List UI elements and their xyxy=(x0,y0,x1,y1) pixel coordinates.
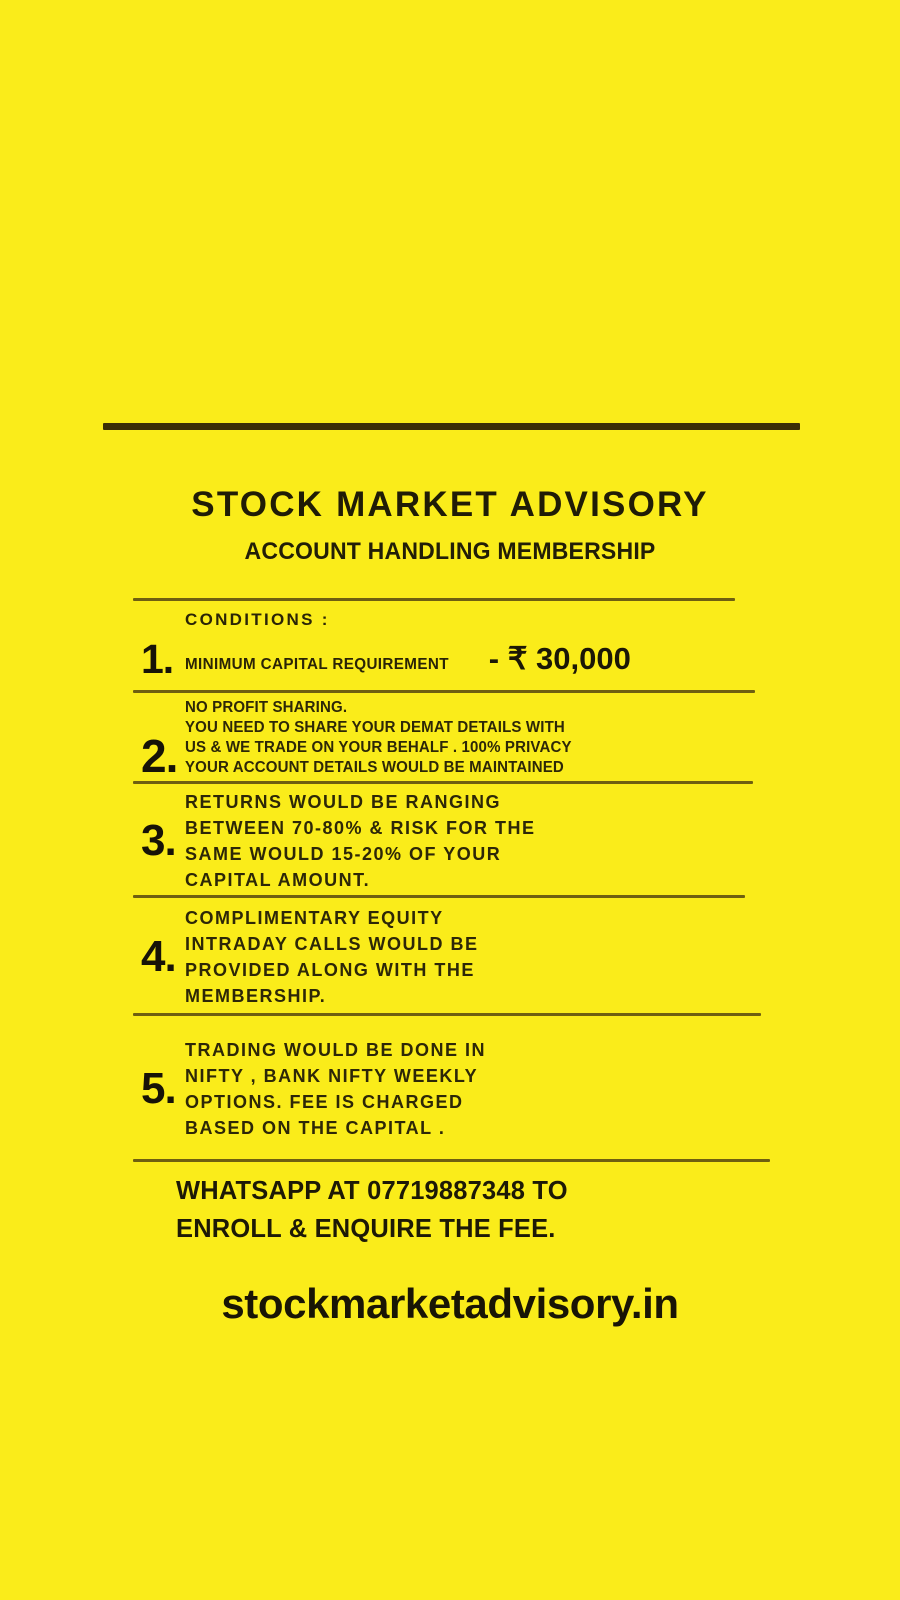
condition-4-line-2: INTRADAY CALLS WOULD BE xyxy=(185,931,773,957)
condition-2-line-4: YOUR ACCOUNT DETAILS WOULD BE MAINTAINED xyxy=(185,758,755,778)
condition-row-1: 1. MINIMUM CAPITAL REQUIREMENT - ₹ 30,00… xyxy=(133,628,773,690)
condition-3-line-1: RETURNS WOULD BE RANGING xyxy=(185,789,773,815)
cta-line-2: ENROLL & ENQUIRE THE FEE. xyxy=(176,1210,862,1248)
condition-number-2: 2. xyxy=(133,733,185,781)
page-subtitle: ACCOUNT HANDLING MEMBERSHIP xyxy=(18,540,882,564)
condition-2-line-2: YOU NEED TO SHARE YOUR DEMAT DETAILS WIT… xyxy=(185,718,755,738)
top-divider-rule xyxy=(103,423,800,430)
condition-3-line-2: BETWEEN 70-80% & RISK FOR THE xyxy=(185,815,773,841)
condition-4-line-3: PROVIDED ALONG WITH THE xyxy=(185,957,773,983)
condition-number-5: 5. xyxy=(133,1067,185,1111)
condition-row-5: 5. TRADING WOULD BE DONE IN NIFTY , BANK… xyxy=(133,1016,773,1159)
condition-3-line-3: SAME WOULD 15-20% OF YOUR xyxy=(185,841,773,867)
condition-1-price: - ₹ 30,000 xyxy=(489,641,631,677)
condition-5-line-4: BASED ON THE CAPITAL . xyxy=(185,1115,773,1141)
condition-number-1: 1. xyxy=(133,639,185,680)
divider-rule-5 xyxy=(133,1159,770,1162)
divider-rule-0 xyxy=(133,598,735,601)
cta-block: WHATSAPP AT 07719887348 TO ENROLL & ENQU… xyxy=(176,1172,876,1247)
condition-body-1: MINIMUM CAPITAL REQUIREMENT - ₹ 30,000 xyxy=(185,641,773,677)
condition-2-line-3: US & WE TRADE ON YOUR BEHALF . 100% PRIV… xyxy=(185,738,755,758)
website-url[interactable]: stockmarketadvisory.in xyxy=(0,1280,900,1328)
condition-body-5: TRADING WOULD BE DONE IN NIFTY , BANK NI… xyxy=(185,1037,773,1141)
condition-body-2: NO PROFIT SHARING. YOU NEED TO SHARE YOU… xyxy=(185,698,773,777)
cta-line-1: WHATSAPP AT 07719887348 TO xyxy=(176,1172,862,1210)
poster-canvas: STOCK MARKET ADVISORY ACCOUNT HANDLING M… xyxy=(0,0,900,1600)
condition-body-4: COMPLIMENTARY EQUITY INTRADAY CALLS WOUL… xyxy=(185,905,773,1009)
condition-3-line-4: CAPITAL AMOUNT. xyxy=(185,867,773,893)
condition-1-label: MINIMUM CAPITAL REQUIREMENT xyxy=(185,656,449,674)
condition-4-line-1: COMPLIMENTARY EQUITY xyxy=(185,905,773,931)
page-title: STOCK MARKET ADVISORY xyxy=(0,487,900,522)
condition-5-line-3: OPTIONS. FEE IS CHARGED xyxy=(185,1089,773,1115)
header-block: STOCK MARKET ADVISORY ACCOUNT HANDLING M… xyxy=(0,487,900,564)
condition-4-line-4: MEMBERSHIP. xyxy=(185,983,773,1009)
condition-number-3: 3. xyxy=(133,819,185,863)
conditions-heading: CONDITIONS : xyxy=(185,611,773,628)
condition-5-line-1: TRADING WOULD BE DONE IN xyxy=(185,1037,773,1063)
condition-5-line-2: NIFTY , BANK NIFTY WEEKLY xyxy=(185,1063,773,1089)
conditions-section: CONDITIONS : 1. MINIMUM CAPITAL REQUIREM… xyxy=(133,598,773,1162)
condition-row-2: 2. NO PROFIT SHARING. YOU NEED TO SHARE … xyxy=(133,693,773,781)
condition-number-4: 4. xyxy=(133,935,185,979)
condition-row-4: 4. COMPLIMENTARY EQUITY INTRADAY CALLS W… xyxy=(133,898,773,1013)
condition-body-3: RETURNS WOULD BE RANGING BETWEEN 70-80% … xyxy=(185,789,773,893)
condition-row-3: 3. RETURNS WOULD BE RANGING BETWEEN 70-8… xyxy=(133,784,773,895)
condition-2-line-1: NO PROFIT SHARING. xyxy=(185,698,755,718)
